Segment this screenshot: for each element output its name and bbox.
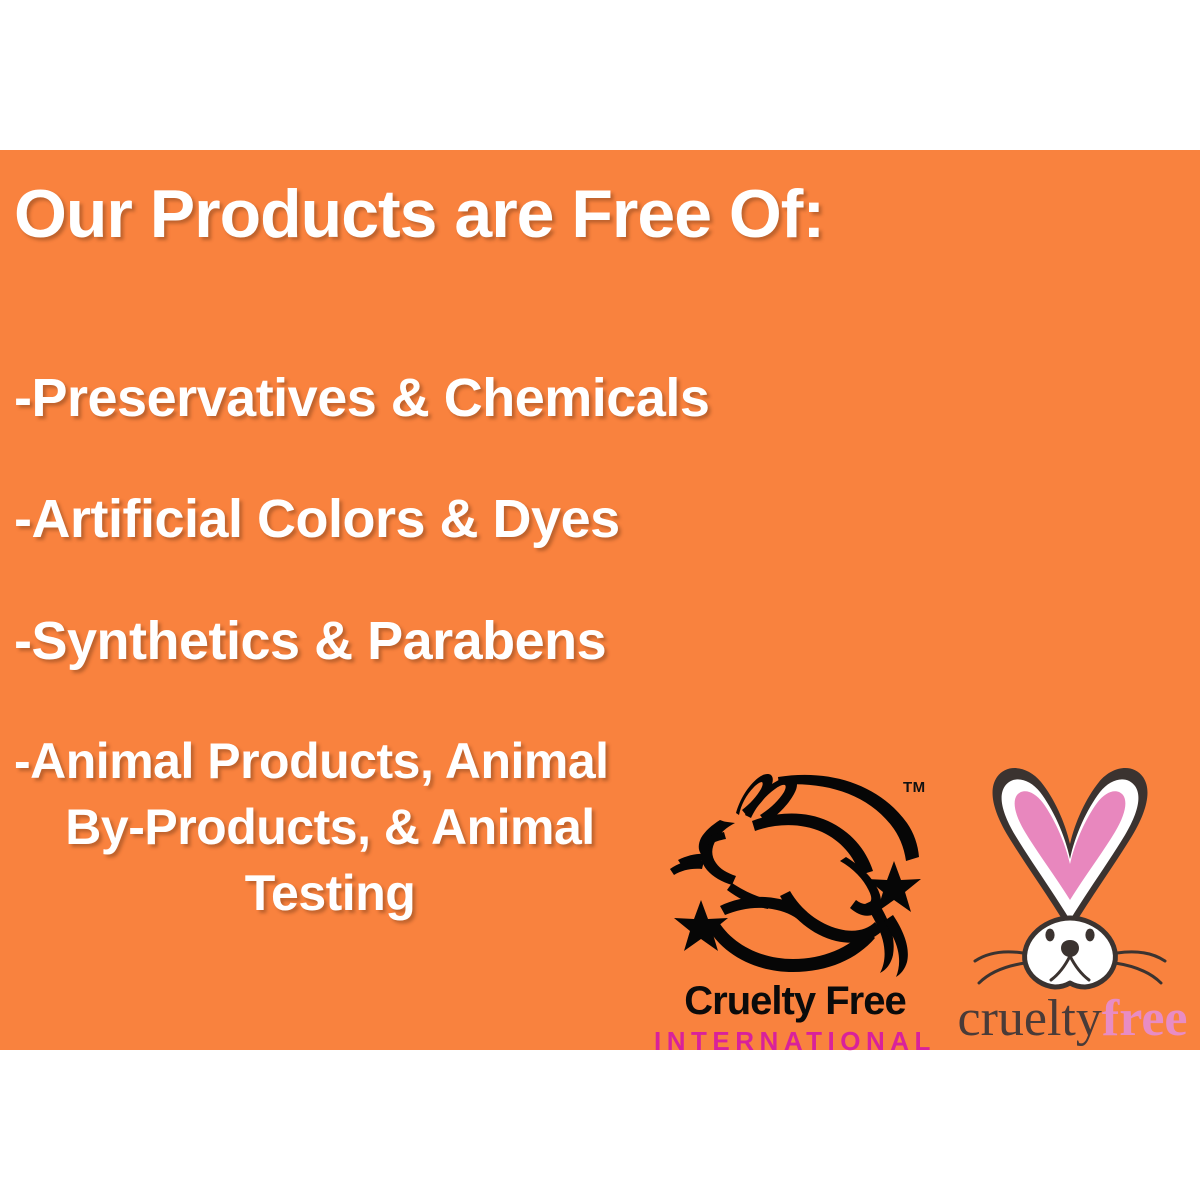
wordmark-cruelty: cruelty [958, 990, 1102, 1047]
leaping-bunny-wordmark: Cruelty Free [650, 979, 940, 1024]
bunny-heart-ears-icon [955, 760, 1185, 1005]
list-item: -Animal Products, Animal By-Products, & … [0, 728, 660, 926]
cruelty-free-wordmark: crueltyfree [935, 990, 1200, 1048]
trademark-symbol: TM [903, 779, 926, 796]
certification-logos: TM Cruelty Free INTERNATIONAL [650, 765, 1200, 1055]
leaping-bunny-icon [660, 765, 930, 980]
leaping-bunny-logo: TM Cruelty Free INTERNATIONAL [650, 765, 940, 1055]
list-item: -Preservatives & Chemicals [14, 367, 709, 429]
wordmark-free: free [1102, 990, 1188, 1047]
leaping-bunny-subtitle: INTERNATIONAL [650, 1026, 940, 1057]
list-item: -Artificial Colors & Dyes [14, 488, 620, 550]
list-item-line-3: Testing [245, 865, 416, 921]
cruelty-free-logo: crueltyfree [935, 760, 1200, 1055]
page-title: Our Products are Free Of: [14, 175, 824, 253]
list-item-line-2: By-Products, & Animal [65, 799, 594, 855]
list-item: -Synthetics & Parabens [14, 610, 606, 672]
poster-canvas: Our Products are Free Of: -Preservatives… [0, 0, 1200, 1200]
list-item-line-1: -Animal Products, Animal [0, 728, 660, 794]
